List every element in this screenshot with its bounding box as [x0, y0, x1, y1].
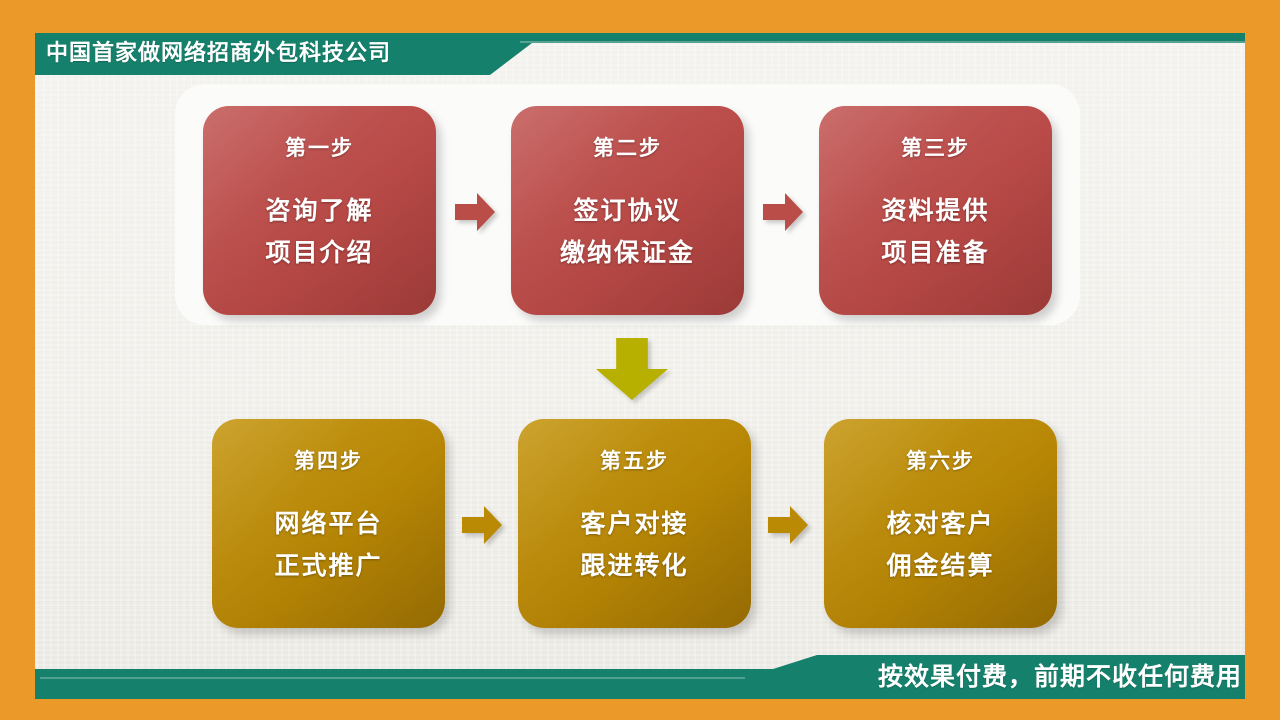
- step-body: 网络平台 正式推广: [212, 503, 445, 587]
- step-line-2: 缴纳保证金: [511, 232, 744, 274]
- arrow-right-icon: [768, 506, 808, 544]
- step-line-2: 正式推广: [212, 545, 445, 587]
- step-card-4[interactable]: 第四步 网络平台 正式推广: [212, 419, 445, 628]
- step-line-1: 客户对接: [518, 503, 751, 545]
- step-card-1[interactable]: 第一步 咨询了解 项目介绍: [203, 106, 436, 315]
- footer-hairline: [40, 677, 745, 679]
- arrow-right-icon: [763, 193, 803, 231]
- step-title: 第五步: [518, 445, 751, 475]
- step-line-1: 签订协议: [511, 190, 744, 232]
- arrow-right-icon: [462, 506, 502, 544]
- step-line-2: 项目介绍: [203, 232, 436, 274]
- step-card-3[interactable]: 第三步 资料提供 项目准备: [819, 106, 1052, 315]
- step-title: 第四步: [212, 445, 445, 475]
- step-title: 第三步: [819, 132, 1052, 162]
- footer-tagline: 按效果付费，前期不收任何费用: [878, 660, 1242, 694]
- arrow-down-icon: [596, 338, 668, 400]
- step-line-2: 佣金结算: [824, 545, 1057, 587]
- step-card-2[interactable]: 第二步 签订协议 缴纳保证金: [511, 106, 744, 315]
- step-card-6[interactable]: 第六步 核对客户 佣金结算: [824, 419, 1057, 628]
- page-title: 中国首家做网络招商外包科技公司: [46, 38, 391, 68]
- step-title: 第一步: [203, 132, 436, 162]
- step-card-5[interactable]: 第五步 客户对接 跟进转化: [518, 419, 751, 628]
- step-line-2: 跟进转化: [518, 545, 751, 587]
- step-title: 第六步: [824, 445, 1057, 475]
- step-body: 咨询了解 项目介绍: [203, 190, 436, 274]
- step-body: 核对客户 佣金结算: [824, 503, 1057, 587]
- step-line-1: 咨询了解: [203, 190, 436, 232]
- step-body: 签订协议 缴纳保证金: [511, 190, 744, 274]
- step-line-2: 项目准备: [819, 232, 1052, 274]
- step-body: 客户对接 跟进转化: [518, 503, 751, 587]
- arrow-right-icon: [455, 193, 495, 231]
- step-body: 资料提供 项目准备: [819, 190, 1052, 274]
- step-line-1: 资料提供: [819, 190, 1052, 232]
- step-title: 第二步: [511, 132, 744, 162]
- header-hairline: [520, 41, 1245, 43]
- step-line-1: 核对客户: [824, 503, 1057, 545]
- step-line-1: 网络平台: [212, 503, 445, 545]
- slide-canvas: 中国首家做网络招商外包科技公司 第一步 咨询了解 项目介绍 第二步 签订协议 缴…: [0, 0, 1280, 720]
